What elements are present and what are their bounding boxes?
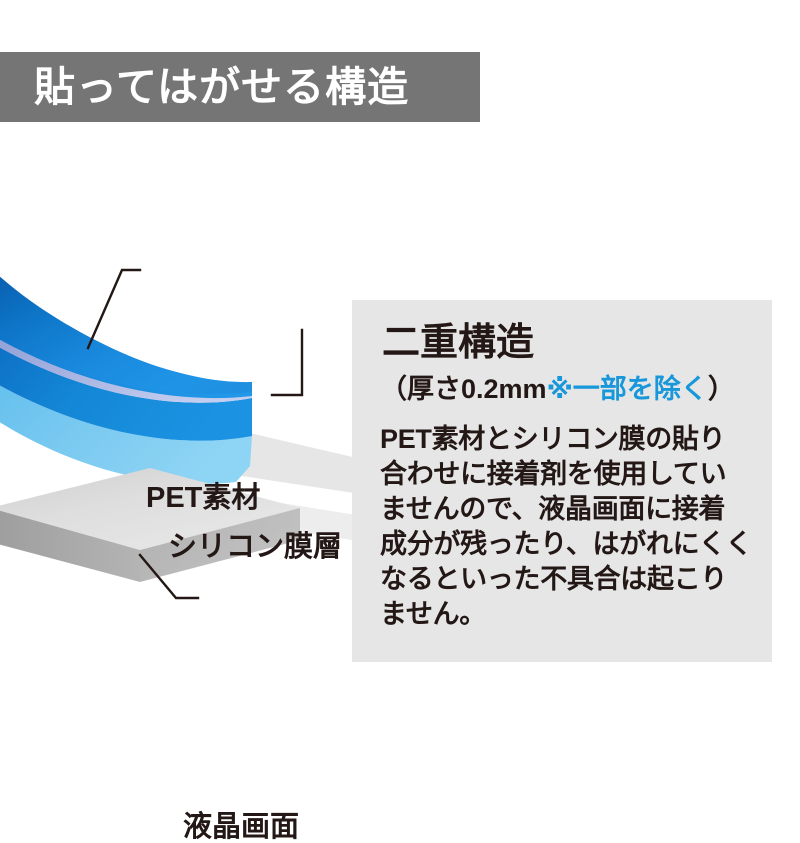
subheading-suffix: ）: [708, 374, 735, 404]
label-lcd-screen: 液晶画面: [183, 813, 299, 842]
label-silicon-membrane: シリコン膜層: [168, 533, 342, 562]
info-panel: 二重構造 （厚さ0.2mm※一部を除く） PET素材とシリコン膜の貼り 合わせに…: [352, 300, 772, 662]
subheading-prefix: （厚さ0.2mm: [380, 374, 547, 404]
layer-structure-diagram: PET素材 シリコン膜層 液晶画面: [0, 230, 400, 650]
body-line: PET素材とシリコン膜の貼り: [380, 422, 762, 457]
info-subheading: （厚さ0.2mm※一部を除く）: [380, 376, 735, 403]
body-line: ません。: [380, 597, 762, 632]
body-line: 成分が残ったり、はがれにくく: [380, 527, 762, 562]
info-heading: 二重構造: [382, 324, 534, 362]
body-line: ませんので、液晶画面に接着: [380, 492, 762, 527]
diagram-illustration: [0, 230, 400, 650]
label-pet-material: PET素材: [146, 484, 260, 513]
page-title: 貼ってはがせる構造: [34, 67, 409, 108]
body-line: なるといった不具合は起こり: [380, 562, 762, 597]
leader-line-pet: [88, 270, 140, 348]
header-banner: 貼ってはがせる構造: [0, 52, 480, 122]
leader-line-silicon: [272, 330, 302, 395]
subheading-note: ※一部を除く: [547, 374, 708, 404]
info-body-text: PET素材とシリコン膜の貼り 合わせに接着剤を使用してい ませんので、液晶画面に…: [380, 422, 762, 632]
body-line: 合わせに接着剤を使用してい: [380, 457, 762, 492]
